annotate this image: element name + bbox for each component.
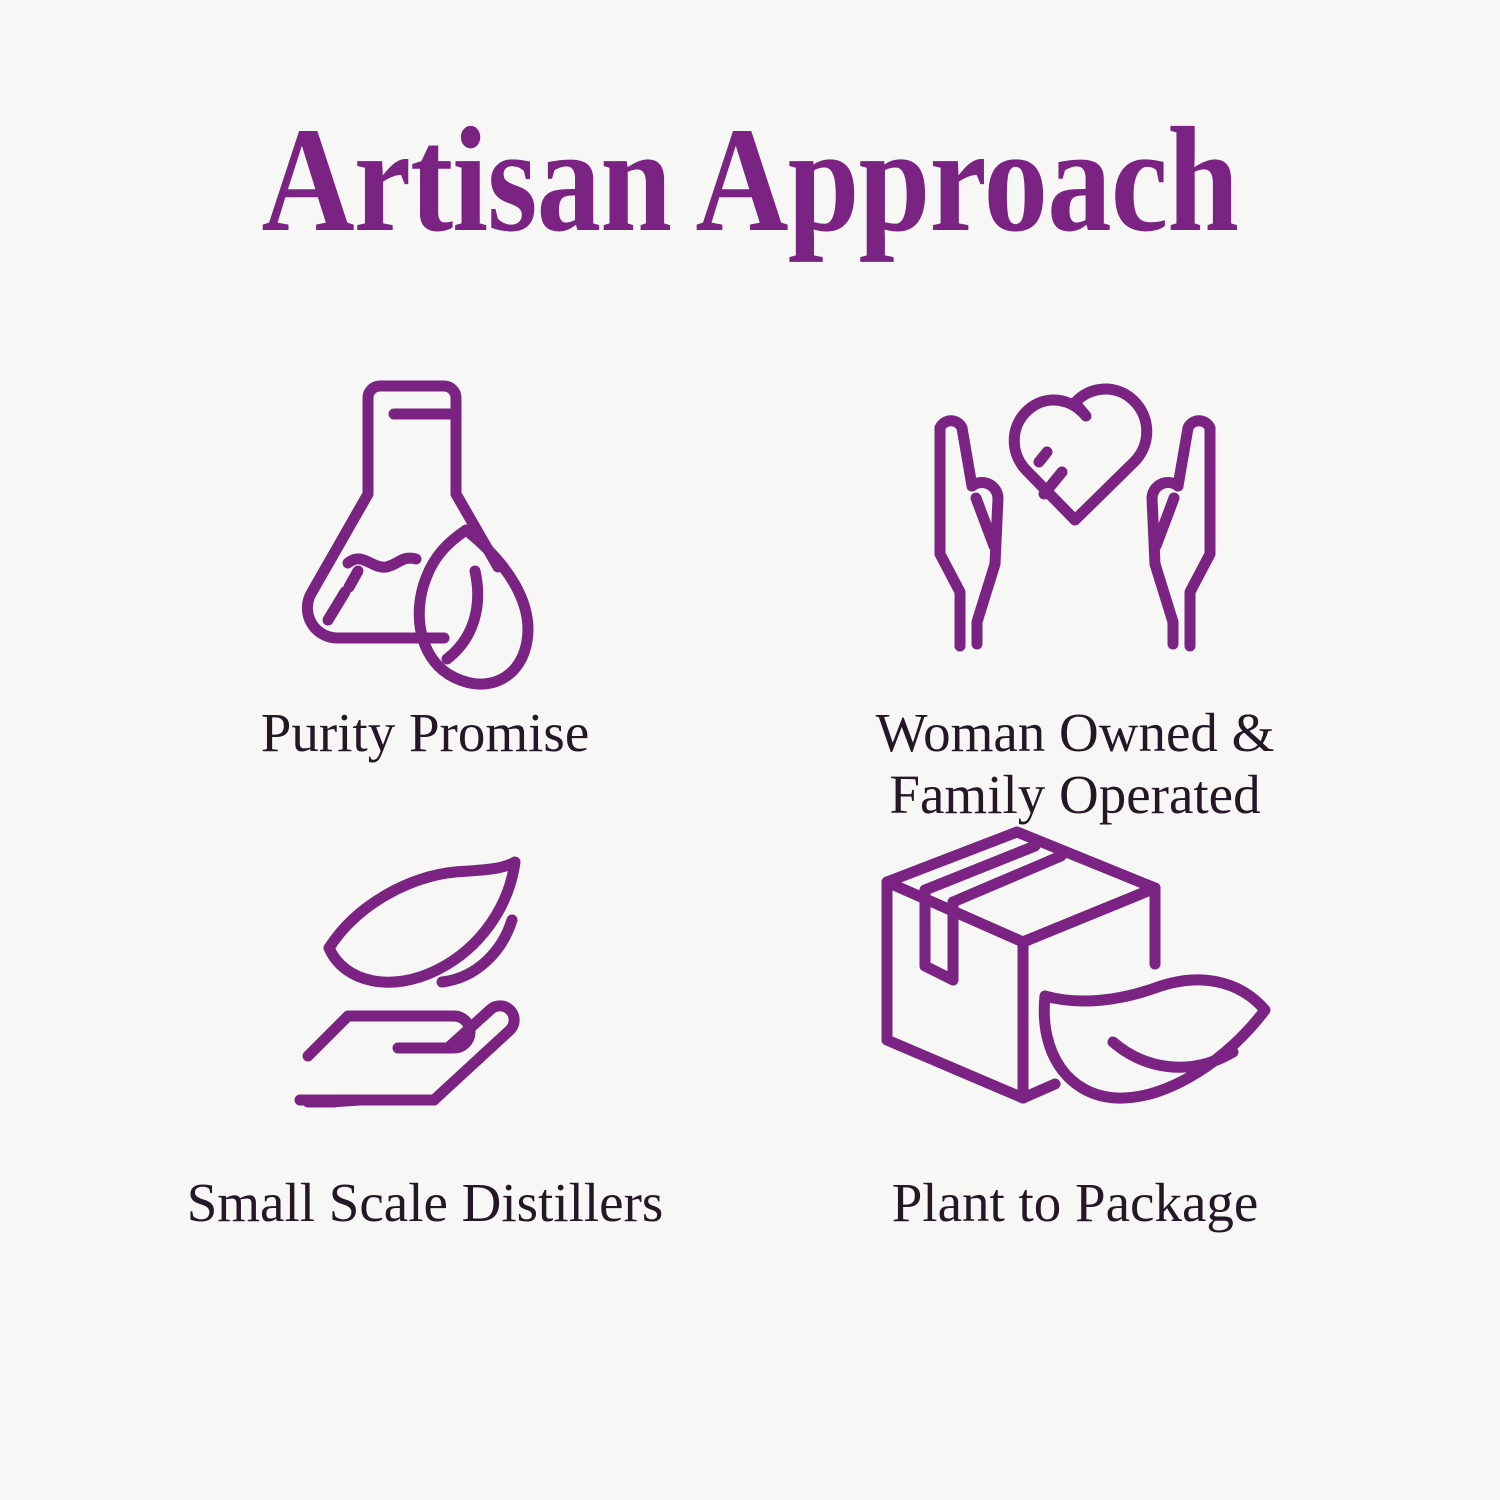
feature-icon-container xyxy=(910,360,1240,660)
leaf-above-open-hand-icon xyxy=(300,850,550,1110)
page-title-container: Artisan Approach xyxy=(0,105,1500,255)
feature-icon-container xyxy=(300,830,550,1110)
hands-holding-heart-icon xyxy=(910,380,1240,660)
feature-item-small-scale-distillers: Small Scale Distillers xyxy=(120,830,730,1260)
feature-label: Plant to Package xyxy=(892,1172,1259,1234)
feature-icon-container xyxy=(290,360,560,660)
feature-label: Purity Promise xyxy=(261,702,590,764)
feature-icon-container xyxy=(865,830,1285,1110)
page-title: Artisan Approach xyxy=(262,105,1239,255)
flask-with-leaf-icon xyxy=(290,370,560,660)
feature-item-plant-to-package: Plant to Package xyxy=(770,830,1380,1260)
shipping-box-with-leaf-icon xyxy=(865,820,1285,1110)
artisan-approach-poster: Artisan Approach xyxy=(0,0,1500,1500)
feature-grid: Purity Promise xyxy=(120,360,1380,1260)
feature-item-purity-promise: Purity Promise xyxy=(120,360,730,830)
feature-label: Small Scale Distillers xyxy=(187,1172,664,1234)
feature-item-woman-owned: Woman Owned & Family Operated xyxy=(770,360,1380,830)
feature-label: Woman Owned & Family Operated xyxy=(876,702,1275,825)
